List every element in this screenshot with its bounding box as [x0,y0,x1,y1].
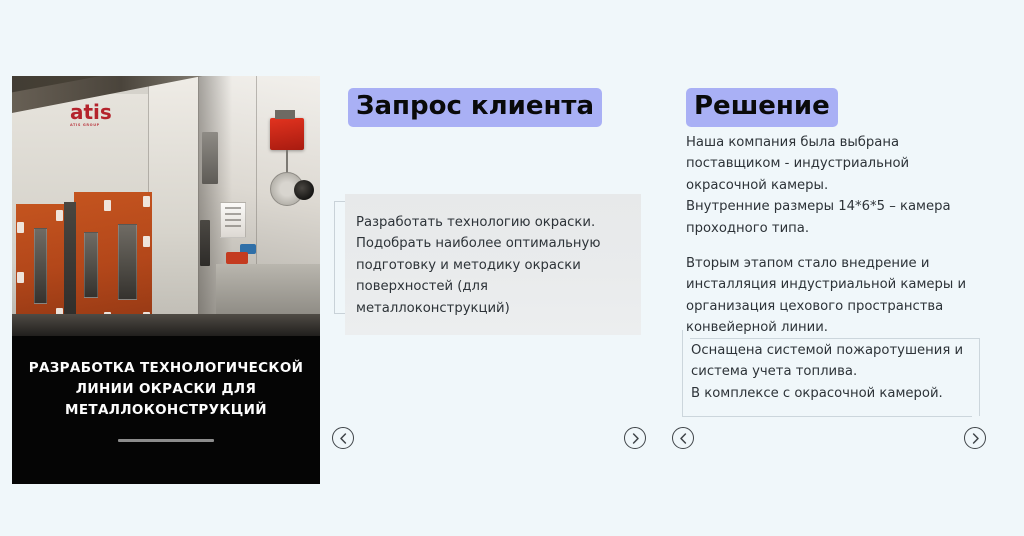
request-line-4: поверхностей (для металлоконструкций) [356,279,510,315]
photo-card: atis ATIS GROUP РАЗРАБОТКА ТЕХНОЛОГИЧЕСК… [12,76,320,484]
card-title-divider [118,439,214,442]
request-text-box: Разработать технологию окраски. Подобрат… [345,194,641,335]
solution-prev-button[interactable] [672,427,694,449]
solution-p1-line-5: проходного типа. [686,221,809,236]
solution-note-line-1: Оснащена системой пожаротушения и [691,343,963,358]
solution-heading: Решение [686,88,838,127]
card-title-line-3: МЕТАЛЛОКОНСТРУКЦИЙ [65,402,267,418]
case-image-card[interactable]: atis ATIS GROUP РАЗРАБОТКА ТЕХНОЛОГИЧЕСК… [12,76,320,484]
solution-p1-line-4: Внутренние размеры 14*6*5 – камера [686,199,951,214]
solution-note-line-3: В комплексе с окрасочной камерой. [691,386,943,401]
solution-p1-line-3: окрасочной камеры. [686,178,828,193]
card-title-line-2: ЛИНИИ ОКРАСКИ ДЛЯ [76,381,256,397]
solution-next-button[interactable] [964,427,986,449]
chevron-right-icon [971,433,980,444]
solution-body: Наша компания была выбрана поставщиком -… [686,132,978,352]
chevron-right-icon [631,433,640,444]
request-column: Запрос клиента Разработать технологию ок… [334,76,648,484]
solution-paragraph-1: Наша компания была выбрана поставщиком -… [686,132,978,239]
request-next-button[interactable] [624,427,646,449]
request-line-2: Подобрать наиболее оптимальную [356,236,600,251]
request-line-1: Разработать технологию окраски. [356,215,595,230]
chevron-left-icon [679,433,688,444]
solution-note: Оснащена системой пожаротушения и систем… [691,340,966,404]
solution-column: Решение Наша компания была выбрана поста… [672,76,992,484]
card-title-line-1: РАЗРАБОТКА ТЕХНОЛОГИЧЕСКОЙ [29,360,304,376]
solution-heading-wrap: Решение [686,88,838,127]
request-heading: Запрос клиента [348,88,602,127]
solution-p1-line-1: Наша компания была выбрана [686,135,899,150]
request-prev-button[interactable] [332,427,354,449]
solution-p2-line-2: инсталляция индустриальной камеры и [686,277,966,292]
card-title: РАЗРАБОТКА ТЕХНОЛОГИЧЕСКОЙ ЛИНИИ ОКРАСКИ… [26,358,306,421]
atis-logo-subtext: ATIS GROUP [70,124,112,128]
card-caption: РАЗРАБОТКА ТЕХНОЛОГИЧЕСКОЙ ЛИНИИ ОКРАСКИ… [12,336,320,484]
request-line-3: подготовку и методику окраски [356,258,581,273]
solution-p2-line-1: Вторым этапом стало внедрение и [686,256,929,271]
request-heading-wrap: Запрос клиента [348,88,602,127]
solution-note-line-2: система учета топлива. [691,364,857,379]
request-body: Разработать технологию окраски. Подобрат… [356,212,631,319]
facility-photo: atis ATIS GROUP [12,76,320,336]
atis-logo-text: atis [70,100,112,124]
solution-note-box: Оснащена системой пожаротушения и систем… [682,330,972,417]
chevron-left-icon [339,433,348,444]
solution-p1-line-2: поставщиком - индустриальной [686,156,909,171]
solution-p2-line-3: организация цехового пространства [686,299,943,314]
atis-logo: atis ATIS GROUP [70,102,112,128]
solution-paragraph-2: Вторым этапом стало внедрение и инсталля… [686,253,978,339]
